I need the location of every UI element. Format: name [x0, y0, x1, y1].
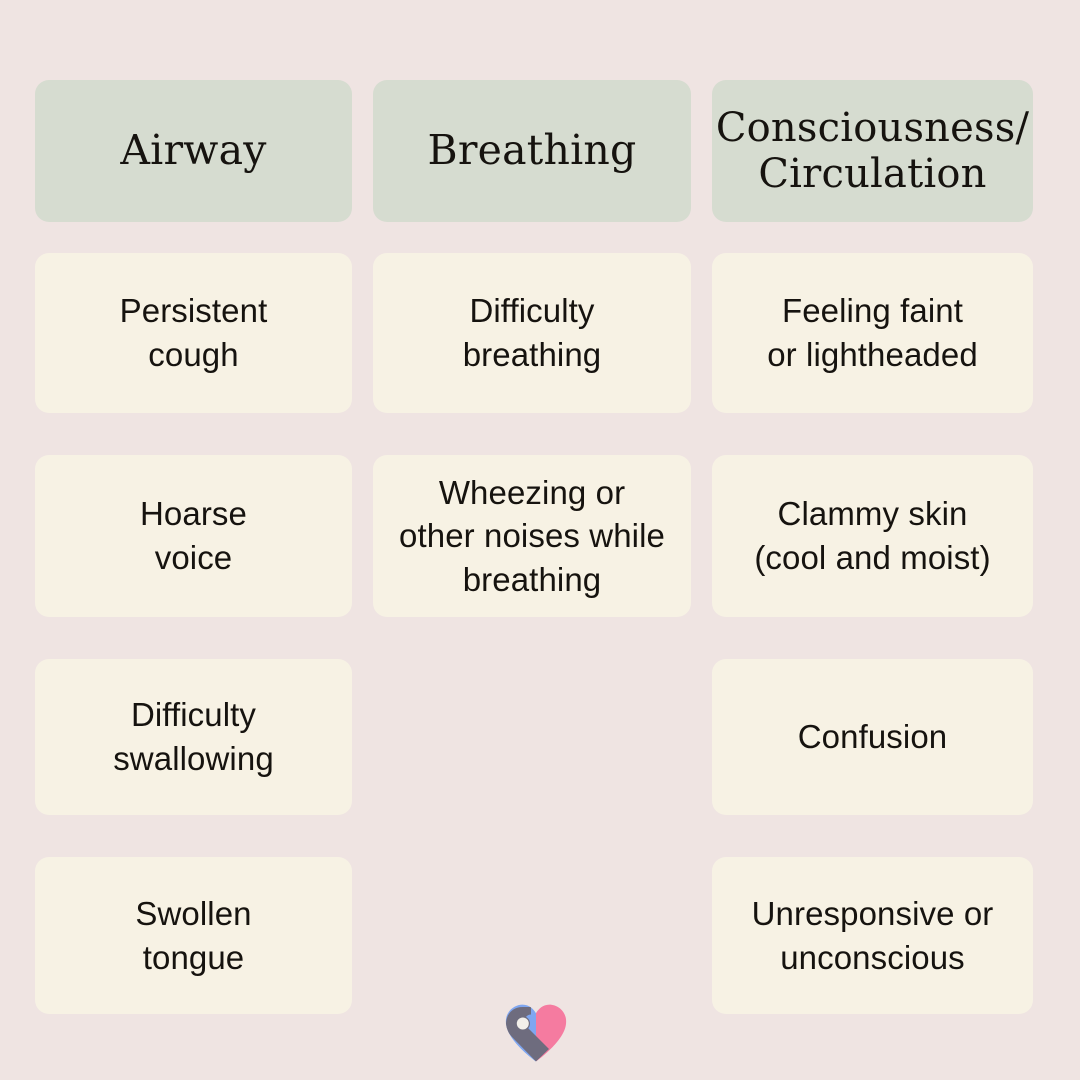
symptom-card: Swollen tongue	[35, 857, 352, 1014]
symptom-label: Feeling faint or lightheaded	[767, 289, 978, 376]
symptom-label: Difficulty swallowing	[113, 693, 274, 780]
column-consciousness-circulation: Consciousness/ Circulation Feeling faint…	[712, 80, 1033, 1056]
infographic-board: Airway Persistent cough Hoarse voice Dif…	[0, 0, 1080, 1080]
column-header-breathing: Breathing	[373, 80, 691, 222]
symptom-card: Unresponsive or unconscious	[712, 857, 1033, 1014]
column-header-airway: Airway	[35, 80, 352, 222]
heart-pin-logo	[505, 1004, 567, 1062]
symptom-label: Confusion	[798, 715, 948, 759]
symptom-label: Persistent cough	[120, 289, 268, 376]
column-airway: Airway Persistent cough Hoarse voice Dif…	[35, 80, 352, 1056]
column-header-label: Airway	[120, 127, 266, 175]
column-header-consciousness-circulation: Consciousness/ Circulation	[712, 80, 1033, 222]
symptom-label: Wheezing or other noises while breathing	[399, 471, 665, 602]
symptom-card: Hoarse voice	[35, 455, 352, 617]
symptom-label: Clammy skin (cool and moist)	[754, 492, 990, 579]
symptom-label: Hoarse voice	[140, 492, 247, 579]
symptom-card: Difficulty breathing	[373, 253, 691, 413]
symptom-card: Feeling faint or lightheaded	[712, 253, 1033, 413]
logo-pin-hole	[517, 1018, 529, 1030]
symptom-card: Wheezing or other noises while breathing	[373, 455, 691, 617]
empty-slot	[373, 857, 691, 1014]
column-header-label: Breathing	[428, 127, 637, 175]
symptom-label: Unresponsive or unconscious	[752, 892, 994, 979]
symptom-label: Difficulty breathing	[463, 289, 602, 376]
symptom-card: Persistent cough	[35, 253, 352, 413]
symptom-card: Difficulty swallowing	[35, 659, 352, 815]
symptom-card: Confusion	[712, 659, 1033, 815]
symptoms-table: Airway Persistent cough Hoarse voice Dif…	[35, 80, 1037, 1056]
column-breathing: Breathing Difficulty breathing Wheezing …	[373, 80, 691, 1056]
symptom-label: Swollen tongue	[135, 892, 251, 979]
symptom-card: Clammy skin (cool and moist)	[712, 455, 1033, 617]
empty-slot	[373, 659, 691, 815]
heart-pin-icon	[505, 1004, 567, 1062]
column-header-label: Consciousness/ Circulation	[716, 105, 1029, 198]
